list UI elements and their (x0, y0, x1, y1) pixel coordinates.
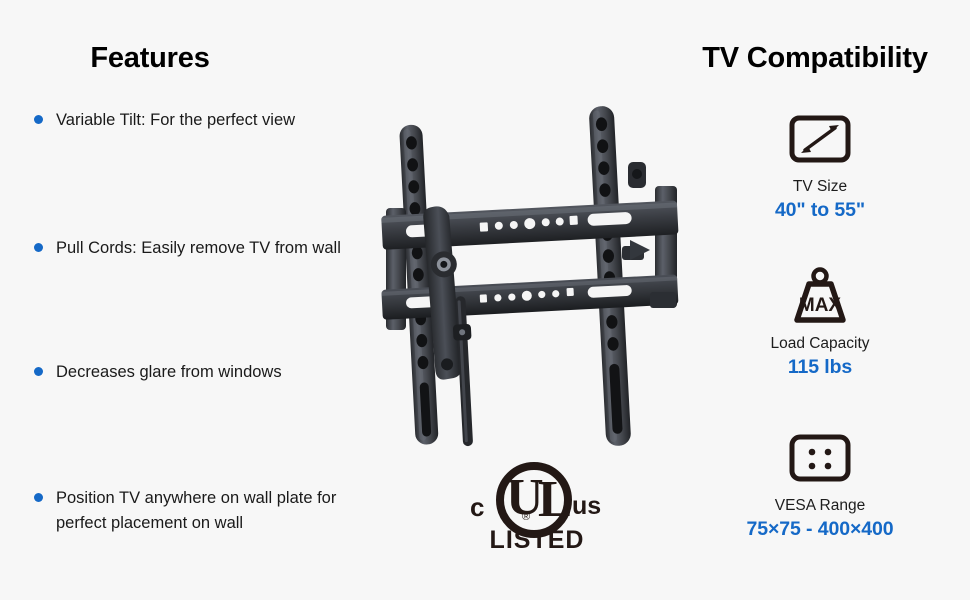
spec-label: VESA Range (700, 496, 940, 515)
spec-value: 75×75 - 400×400 (700, 518, 940, 541)
spec-label: Load Capacity (700, 334, 940, 353)
list-item: Decreases glare from windows (34, 360, 282, 385)
svg-text:®: ® (522, 511, 530, 523)
max-weight-icon: MAX (700, 265, 940, 327)
product-image-tv-mount (372, 96, 692, 466)
svg-text:L: L (538, 471, 573, 528)
list-item: Pull Cords: Easily remove TV from wall (34, 236, 341, 261)
svg-text:LISTED: LISTED (490, 526, 585, 550)
max-weight-icon-text: MAX (799, 295, 842, 316)
tv-size-icon (700, 108, 940, 170)
bullet-dot-icon (34, 115, 43, 124)
spec-vesa-range: VESA Range 75×75 - 400×400 (700, 427, 940, 541)
svg-text:us: us (572, 492, 601, 520)
spec-load-capacity: MAX Load Capacity 115 lbs (700, 265, 940, 379)
tv-compatibility-heading: TV Compatibility (660, 42, 970, 75)
features-heading: Features (0, 42, 300, 75)
vesa-pattern-icon (700, 427, 940, 489)
infographic-canvas: Features Variable Tilt: For the perfect … (0, 0, 970, 600)
feature-text: Variable Tilt: For the perfect view (56, 108, 295, 133)
spec-value: 115 lbs (700, 356, 940, 379)
spec-tv-size: TV Size 40" to 55" (700, 108, 940, 222)
list-item: Variable Tilt: For the perfect view (34, 108, 295, 133)
feature-text: Pull Cords: Easily remove TV from wall (56, 236, 341, 261)
ul-listed-logo: c U L ® us LISTED (462, 458, 612, 550)
feature-text: Decreases glare from windows (56, 360, 282, 385)
spec-value: 40" to 55" (700, 199, 940, 222)
feature-text: Position TV anywhere on wall plate for p… (56, 486, 346, 536)
list-item: Position TV anywhere on wall plate for p… (34, 486, 346, 536)
svg-text:c: c (470, 492, 484, 522)
bullet-dot-icon (34, 367, 43, 376)
bullet-dot-icon (34, 243, 43, 252)
bullet-dot-icon (34, 493, 43, 502)
spec-label: TV Size (700, 177, 940, 196)
